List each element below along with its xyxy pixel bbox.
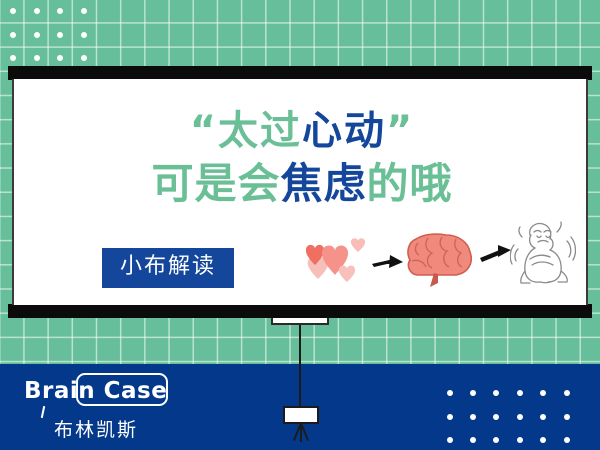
decorative-dot — [81, 32, 87, 38]
decorative-dot — [81, 8, 87, 14]
decorative-dot — [10, 8, 16, 14]
decorative-dot — [81, 55, 87, 61]
decorative-dot — [470, 390, 476, 396]
decorative-dot — [447, 390, 453, 396]
decorative-dot — [540, 390, 546, 396]
decorative-dot — [34, 8, 40, 14]
decorative-dot — [517, 437, 523, 443]
decorative-dot — [447, 437, 453, 443]
screen-bottom-bar — [8, 304, 592, 318]
status-badge: 小布解读 — [102, 248, 234, 288]
decorative-dot — [470, 437, 476, 443]
decorative-dot — [34, 32, 40, 38]
decorative-dot — [10, 55, 16, 61]
illustration-row — [296, 227, 578, 299]
headline-line-2: 可是会焦虑的哦 — [14, 163, 590, 205]
brand-name-cn: 布林凯斯 — [54, 415, 138, 442]
headline-segment-green-2: 的哦 — [367, 159, 453, 208]
hearts-icon — [300, 235, 368, 290]
decorative-dot — [564, 437, 570, 443]
decorative-dot — [517, 390, 523, 396]
decorative-dot — [57, 32, 63, 38]
projector-handle-legs — [285, 423, 317, 443]
decorative-dot — [57, 55, 63, 61]
brand-logo: Brain Case 布林凯斯 — [22, 376, 192, 438]
decorative-dot — [470, 414, 476, 420]
projector-screen: “太过心动” 可是会焦虑的哦 小布解读 — [8, 66, 592, 318]
decorative-dot — [564, 414, 570, 420]
arrow-right-icon — [480, 245, 512, 268]
arrow-right-icon — [372, 255, 404, 276]
headline-segment-green: “太过 — [190, 108, 302, 154]
projector-pull-handle — [283, 406, 319, 424]
brand-name-en: Brain Case — [24, 378, 167, 404]
decorative-dot — [10, 32, 16, 38]
decorative-dot — [57, 8, 63, 14]
headline-segment-green: 可是会 — [151, 159, 280, 208]
decorative-dot — [493, 390, 499, 396]
decorative-dot — [34, 55, 40, 61]
poster-canvas: “太过心动” 可是会焦虑的哦 小布解读 — [0, 0, 600, 450]
screen-top-bar — [8, 66, 592, 80]
speech-bubble-tail-icon — [41, 406, 45, 418]
screen-content-area: “太过心动” 可是会焦虑的哦 小布解读 — [12, 79, 588, 305]
decorative-dot — [540, 437, 546, 443]
headline-segment-quote: ” — [386, 108, 414, 154]
decorative-dot — [493, 414, 499, 420]
headline-segment-blue: 心动 — [302, 108, 386, 154]
decorative-dot — [447, 414, 453, 420]
page-title: “太过心动” 可是会焦虑的哦 — [14, 111, 590, 205]
brain-icon — [404, 229, 476, 296]
dot-pattern-bottom-right — [447, 390, 587, 450]
headline-line-1: “太过心动” — [14, 111, 590, 151]
decorative-dot — [564, 390, 570, 396]
anxious-person-icon — [510, 219, 576, 296]
projector-cord — [299, 318, 301, 408]
decorative-dot — [540, 414, 546, 420]
decorative-dot — [517, 414, 523, 420]
headline-segment-blue: 焦虑 — [280, 159, 366, 208]
decorative-dot — [493, 437, 499, 443]
